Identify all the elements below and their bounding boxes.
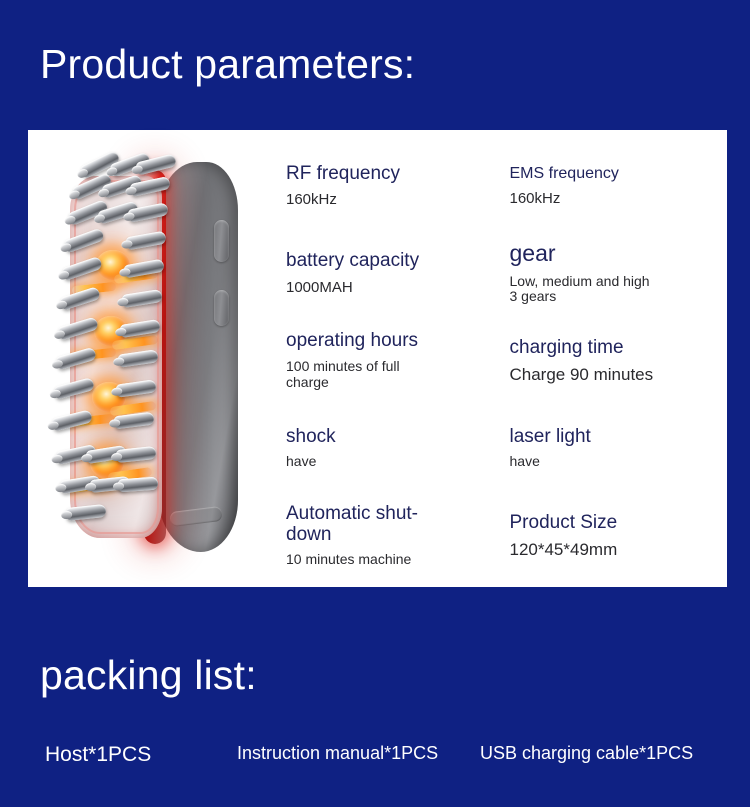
param-label: gear [510,241,724,267]
param-label: Automatic shut- down [286,503,461,546]
param-value: Low, medium and high 3 gears [510,274,724,306]
param-label: Product Size [510,512,724,533]
param-row-rf-frequency: RF frequency 160kHz [286,142,500,229]
param-value: 160kHz [510,190,724,207]
param-label: EMS frequency [510,165,724,183]
brand-logo-emboss [169,506,222,527]
page-title-product-parameters: Product parameters: [40,44,415,85]
section-title-packing-list: packing list: [40,655,257,696]
packing-list: Host*1PCS Instruction manual*1PCS USB ch… [40,744,710,774]
mode-button-icon [214,290,229,326]
massage-tooth-icon [118,477,159,493]
packing-list-item: USB charging cable*1PCS [480,744,693,762]
device-body [158,162,238,552]
param-row-operating-hours: operating hours 100 minutes of full char… [286,317,500,404]
parameters-column-left: RF frequency 160kHz battery capacity 100… [276,142,500,579]
parameters-column-right: EMS frequency 160kHz gear Low, medium an… [500,142,724,579]
param-row-gear: gear Low, medium and high 3 gears [510,229,724,316]
param-label: RF frequency [286,163,500,184]
param-label: operating hours [286,330,500,351]
power-button-icon [214,220,229,262]
param-row-battery-capacity: battery capacity 1000MAH [286,229,500,316]
param-value: have [286,454,500,470]
param-row-shock: shock have [286,404,500,491]
param-value: have [510,454,724,470]
param-value: 160kHz [286,191,500,208]
param-row-charging-time: charging time Charge 90 minutes [510,317,724,404]
param-value: 1000MAH [286,279,500,296]
param-value: Charge 90 minutes [510,365,724,384]
param-row-ems-frequency: EMS frequency 160kHz [510,142,724,229]
param-label: battery capacity [286,250,500,271]
packing-list-item: Instruction manual*1PCS [237,744,438,762]
param-label: charging time [510,337,724,358]
param-row-laser-light: laser light have [510,404,724,491]
param-value: 120*45*49mm [510,540,724,559]
param-value: 100 minutes of full charge [286,359,500,391]
device-illustration [70,162,238,552]
param-label: laser light [510,426,724,447]
parameters-panel: RF frequency 160kHz battery capacity 100… [28,130,727,587]
param-label: shock [286,426,500,447]
param-row-product-size: Product Size 120*45*49mm [510,492,724,579]
param-row-automatic-shutdown: Automatic shut- down 10 minutes machine [286,492,500,579]
param-value: 10 minutes machine [286,552,500,568]
packing-list-item: Host*1PCS [45,744,151,765]
parameters-table: RF frequency 160kHz battery capacity 100… [276,142,723,579]
product-image [38,140,278,577]
